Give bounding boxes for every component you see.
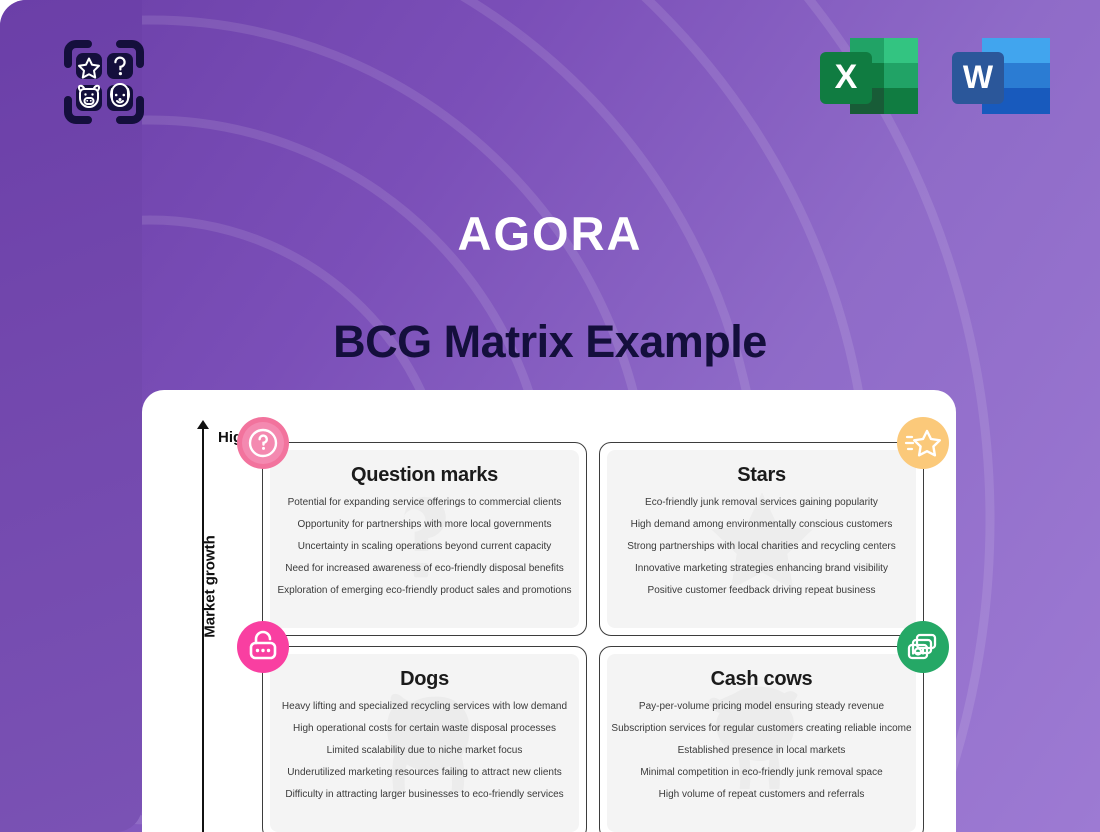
brand-title: AGORA bbox=[0, 206, 1100, 261]
agora-logo[interactable] bbox=[52, 30, 156, 134]
list-item: Underutilized marketing resources failin… bbox=[270, 767, 579, 780]
list-item: High volume of repeat customers and refe… bbox=[607, 789, 916, 802]
list-item: Pay-per-volume pricing model ensuring st… bbox=[607, 701, 916, 714]
quadrant-item-list: Pay-per-volume pricing model ensuring st… bbox=[607, 701, 916, 811]
quadrant-dogs-body: Dogs Heavy lifting and specialized recyc… bbox=[270, 654, 579, 832]
stars-badge[interactable] bbox=[897, 417, 949, 469]
quadrant-question-marks[interactable]: Question marks Potential for expanding s… bbox=[262, 442, 587, 636]
list-item: Exploration of emerging eco-friendly pro… bbox=[270, 585, 579, 598]
list-item: Limited scalability due to niche market … bbox=[270, 745, 579, 758]
quadrant-title: Stars bbox=[737, 464, 786, 487]
list-item: Difficulty in attracting larger business… bbox=[270, 789, 579, 802]
excel-icon[interactable]: X bbox=[816, 28, 922, 124]
quadrant-item-list: Heavy lifting and specialized recycling … bbox=[270, 701, 579, 811]
quadrant-item-list: Potential for expanding service offering… bbox=[270, 497, 579, 607]
quadrant-title: Question marks bbox=[351, 464, 498, 487]
export-format-icons: X W bbox=[816, 28, 1054, 124]
list-item: Need for increased awareness of eco-frie… bbox=[270, 563, 579, 576]
quadrant-title: Cash cows bbox=[711, 668, 813, 691]
slide-canvas: X W AGORA BCG Matrix Example High Market… bbox=[0, 0, 1100, 832]
list-item: Opportunity for partnerships with more l… bbox=[270, 519, 579, 532]
list-item: Uncertainty in scaling operations beyond… bbox=[270, 541, 579, 554]
list-item: High operational costs for certain waste… bbox=[270, 723, 579, 736]
quadrant-title: Dogs bbox=[400, 668, 449, 691]
excel-icon-glyph: X bbox=[816, 28, 922, 124]
svg-text:X: X bbox=[835, 58, 858, 96]
word-icon-glyph: W bbox=[948, 28, 1054, 124]
list-item: Eco-friendly junk removal services gaini… bbox=[607, 497, 916, 510]
list-item: Positive customer feedback driving repea… bbox=[607, 585, 916, 598]
list-item: Innovative marketing strategies enhancin… bbox=[607, 563, 916, 576]
quadrant-question-marks-body: Question marks Potential for expanding s… bbox=[270, 450, 579, 628]
question-mark-icon bbox=[237, 417, 289, 469]
list-item: Heavy lifting and specialized recycling … bbox=[270, 701, 579, 714]
star-icon bbox=[897, 417, 949, 469]
matrix-card: High Market growth bbox=[142, 390, 956, 832]
list-item: Potential for expanding service offering… bbox=[270, 497, 579, 510]
word-icon[interactable]: W bbox=[948, 28, 1054, 124]
quadrant-stars[interactable]: Stars Eco-friendly junk removal services… bbox=[599, 442, 924, 636]
banknotes-icon bbox=[897, 621, 949, 673]
list-item: Established presence in local markets bbox=[607, 745, 916, 758]
list-item: Subscription services for regular custom… bbox=[607, 723, 916, 736]
list-item: Minimal competition in eco-friendly junk… bbox=[607, 767, 916, 780]
quadrant-cash-cows-body: Cash cows Pay-per-volume pricing model e… bbox=[607, 654, 916, 832]
quadrant-item-list: Eco-friendly junk removal services gaini… bbox=[607, 497, 916, 607]
quadrant-cash-cows[interactable]: Cash cows Pay-per-volume pricing model e… bbox=[599, 646, 924, 832]
cash-cows-badge[interactable] bbox=[897, 621, 949, 673]
list-item: Strong partnerships with local charities… bbox=[607, 541, 916, 554]
quadrant-stars-body: Stars Eco-friendly junk removal services… bbox=[607, 450, 916, 628]
list-item: High demand among environmentally consci… bbox=[607, 519, 916, 532]
bcg-matrix-grid: Question marks Potential for expanding s… bbox=[262, 442, 924, 832]
y-axis-title: Market growth bbox=[202, 517, 219, 657]
dogs-badge[interactable] bbox=[237, 621, 289, 673]
page-title: BCG Matrix Example bbox=[0, 316, 1100, 368]
svg-text:W: W bbox=[963, 59, 994, 95]
question-marks-badge[interactable] bbox=[237, 417, 289, 469]
dog-lock-icon bbox=[237, 621, 289, 673]
agora-quad-logo-icon bbox=[52, 30, 156, 134]
quadrant-dogs[interactable]: Dogs Heavy lifting and specialized recyc… bbox=[262, 646, 587, 832]
